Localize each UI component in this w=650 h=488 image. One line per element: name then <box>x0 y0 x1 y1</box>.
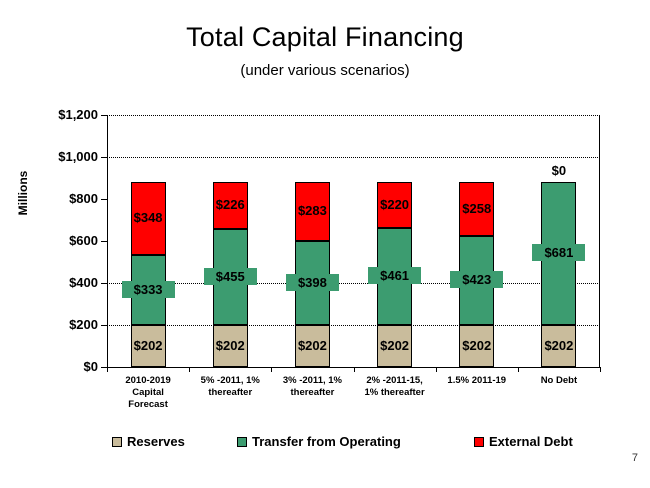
bar-group[interactable]: $202$681$0 <box>541 115 576 367</box>
x-category-line: No Debt <box>507 375 611 387</box>
page-subtitle: (under various scenarios) <box>0 62 650 79</box>
bar-value-label-zero: $0 <box>532 163 585 178</box>
bar-value-label: $202 <box>532 337 585 354</box>
x-tick <box>189 367 190 372</box>
x-tick <box>271 367 272 372</box>
y-axis-label: $200 <box>16 317 98 332</box>
x-tick <box>600 367 601 372</box>
legend-swatch-icon <box>237 437 247 447</box>
bar-series-container: $202$333$348$202$455$226$202$398$283$202… <box>107 115 600 367</box>
y-axis-label: $600 <box>16 233 98 248</box>
y-axis-label: $0 <box>16 359 98 374</box>
slide-number: 7 <box>632 452 638 464</box>
y-axis-label: $1,200 <box>16 107 98 122</box>
legend-label: External Debt <box>489 434 573 449</box>
bar-value-label: $202 <box>450 337 503 354</box>
page-title: Total Capital Financing <box>0 22 650 53</box>
x-category-line: Forecast <box>96 399 200 411</box>
y-axis-label: $1,000 <box>16 149 98 164</box>
bar-value-label: $398 <box>286 274 339 291</box>
x-tick <box>518 367 519 372</box>
slide-canvas: Total Capital Financing (under various s… <box>0 0 650 488</box>
bar-value-label: $202 <box>286 337 339 354</box>
bar-value-label: $202 <box>368 337 421 354</box>
legend-label: Reserves <box>127 434 185 449</box>
x-tick <box>107 367 108 372</box>
bar-value-label: $461 <box>368 267 421 284</box>
bar-group[interactable]: $202$461$220 <box>377 115 412 367</box>
bar-value-label: $333 <box>122 281 175 298</box>
bar-value-label: $202 <box>204 337 257 354</box>
x-tick <box>436 367 437 372</box>
legend-swatch-icon <box>112 437 122 447</box>
bar-value-label: $681 <box>532 244 585 261</box>
bar-value-label: $258 <box>450 200 503 217</box>
legend-item-external-debt[interactable]: External Debt <box>474 434 573 449</box>
x-tick <box>354 367 355 372</box>
bar-value-label: $226 <box>204 196 257 213</box>
bar-group[interactable]: $202$423$258 <box>459 115 494 367</box>
y-axis-label: $800 <box>16 191 98 206</box>
bar-group[interactable]: $202$398$283 <box>295 115 330 367</box>
legend-label: Transfer from Operating <box>252 434 401 449</box>
bar-value-label: $455 <box>204 268 257 285</box>
bar-value-label: $348 <box>122 209 175 226</box>
bar-value-label: $220 <box>368 196 421 213</box>
bar-group[interactable]: $202$333$348 <box>131 115 166 367</box>
bar-value-label: $423 <box>450 271 503 288</box>
legend-item-transfer-from-operating[interactable]: Transfer from Operating <box>237 434 401 449</box>
legend-item-reserves[interactable]: Reserves <box>112 434 185 449</box>
chart-legend: ReservesTransfer from OperatingExternal … <box>107 434 607 454</box>
x-category-label: No Debt <box>507 375 611 387</box>
y-axis-label: $400 <box>16 275 98 290</box>
bar-value-label: $283 <box>286 202 339 219</box>
legend-swatch-icon <box>474 437 484 447</box>
x-category-line: 1% thereafter <box>343 387 447 399</box>
bar-value-label: $202 <box>122 337 175 354</box>
bar-group[interactable]: $202$455$226 <box>213 115 248 367</box>
